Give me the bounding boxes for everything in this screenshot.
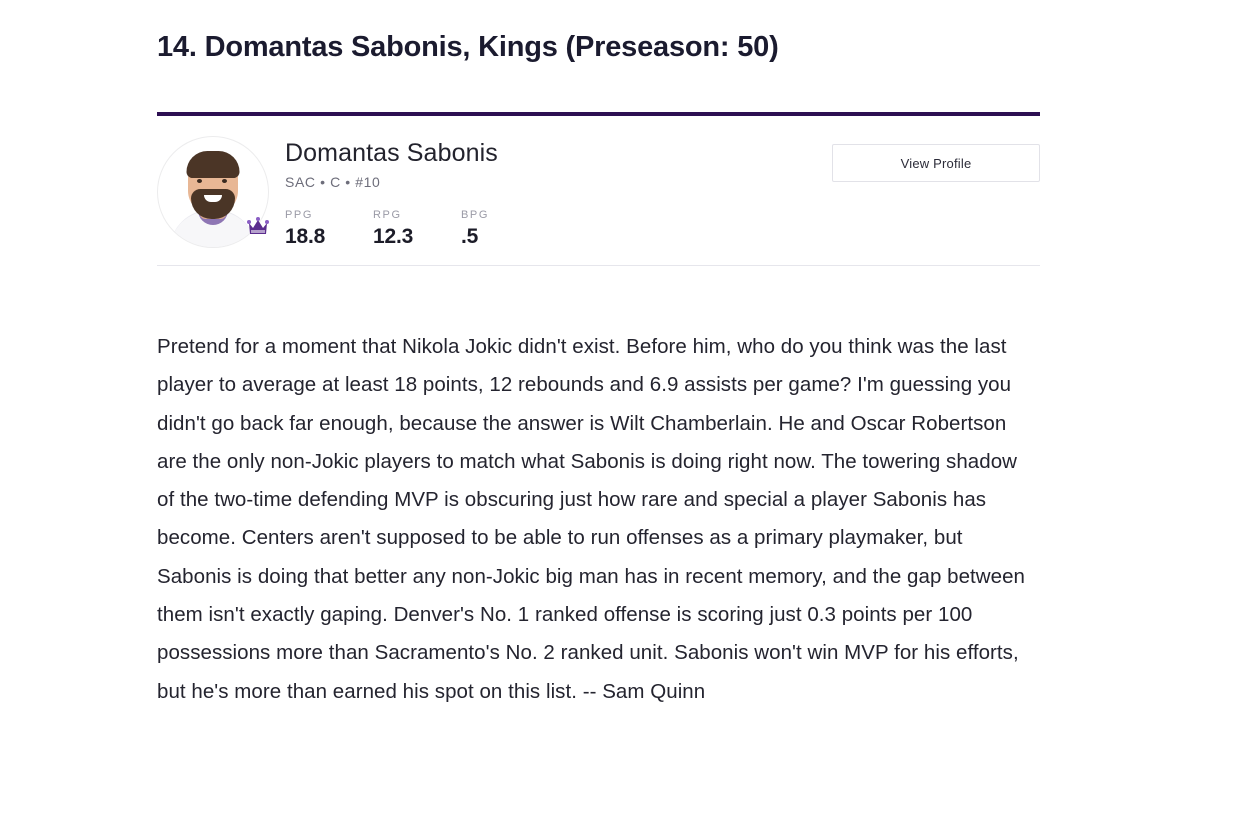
player-card: Domantas Sabonis SAC • C • #10 PPG 18.8 … xyxy=(157,112,1040,266)
player-stats-row: PPG 18.8 RPG 12.3 BPG .5 xyxy=(285,209,1040,249)
page-title: 14. Domantas Sabonis, Kings (Preseason: … xyxy=(157,0,1040,67)
hair-shape xyxy=(187,151,240,178)
view-profile-button[interactable]: View Profile xyxy=(832,144,1040,182)
stat-ppg: PPG 18.8 xyxy=(285,209,331,249)
eye-right-shape xyxy=(222,179,227,183)
kings-crown-icon xyxy=(245,214,271,240)
stat-ppg-label: PPG xyxy=(285,209,331,222)
stat-bpg-label: BPG xyxy=(461,209,507,222)
stat-rpg-value: 12.3 xyxy=(373,225,419,249)
avatar xyxy=(157,136,269,248)
stat-ppg-value: 18.8 xyxy=(285,225,331,249)
stat-rpg: RPG 12.3 xyxy=(373,209,419,249)
content-column: 14. Domantas Sabonis, Kings (Preseason: … xyxy=(157,0,1040,711)
stat-bpg: BPG .5 xyxy=(461,209,507,249)
article-page: 14. Domantas Sabonis, Kings (Preseason: … xyxy=(0,0,1254,832)
eye-left-shape xyxy=(197,179,202,183)
article-body-text: Pretend for a moment that Nikola Jokic d… xyxy=(157,266,1037,711)
stat-bpg-value: .5 xyxy=(461,225,507,249)
stat-rpg-label: RPG xyxy=(373,209,419,222)
